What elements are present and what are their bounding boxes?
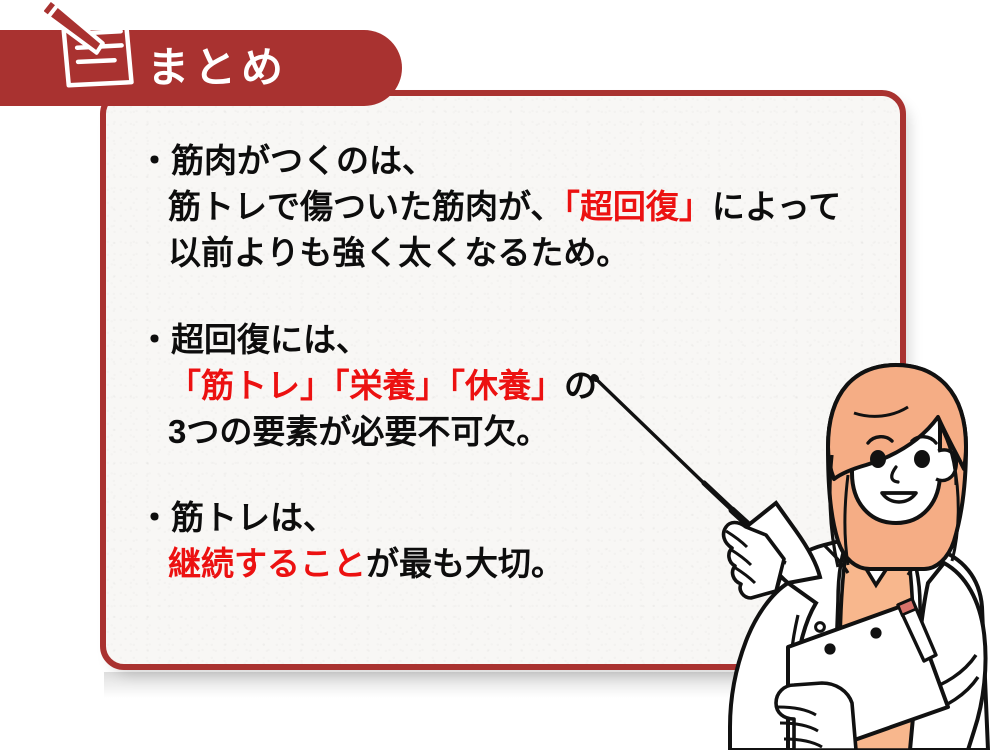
hand-holding-clipboard [776,683,856,750]
eye-left [870,450,886,468]
bullet-item: ・筋肉がつくのは、筋トレで傷ついた筋肉が、「超回復」によって以前よりも強く太くな… [138,138,778,277]
eye-right [914,450,930,468]
bullet-line: 以前よりも強く太くなるため。 [138,230,778,276]
highlighted-text: 継続すること [168,545,366,582]
body-text: が最も大切。 [366,545,564,582]
body-text: ・筋肉がつくのは、 [138,142,435,179]
notepad-pencil-icon [44,0,154,98]
bullet-line: 筋トレで傷ついた筋肉が、「超回復」によって [138,184,778,230]
highlighted-text: 「筋トレ」「栄養」「休養」 [168,367,564,404]
body-text: によって [712,188,841,225]
body-text: ・超回復には、 [138,321,369,358]
body-text: ・筋トレは、 [138,499,336,536]
presenter-illustration [580,355,1000,750]
body-text: 以前よりも強く太くなるため。 [168,234,629,271]
bullet-line: ・筋肉がつくのは、 [138,138,778,184]
page-title: まとめ [147,47,288,89]
body-text: 3つの要素が必要不可欠。 [168,413,549,450]
pointer-stick [589,372,766,541]
body-text: 筋トレで傷ついた筋肉が、 [168,188,563,225]
highlighted-text: 「超回復」 [563,188,712,225]
slide-canvas: ・筋肉がつくのは、筋トレで傷ついた筋肉が、「超回復」によって以前よりも強く太くな… [0,0,1000,750]
